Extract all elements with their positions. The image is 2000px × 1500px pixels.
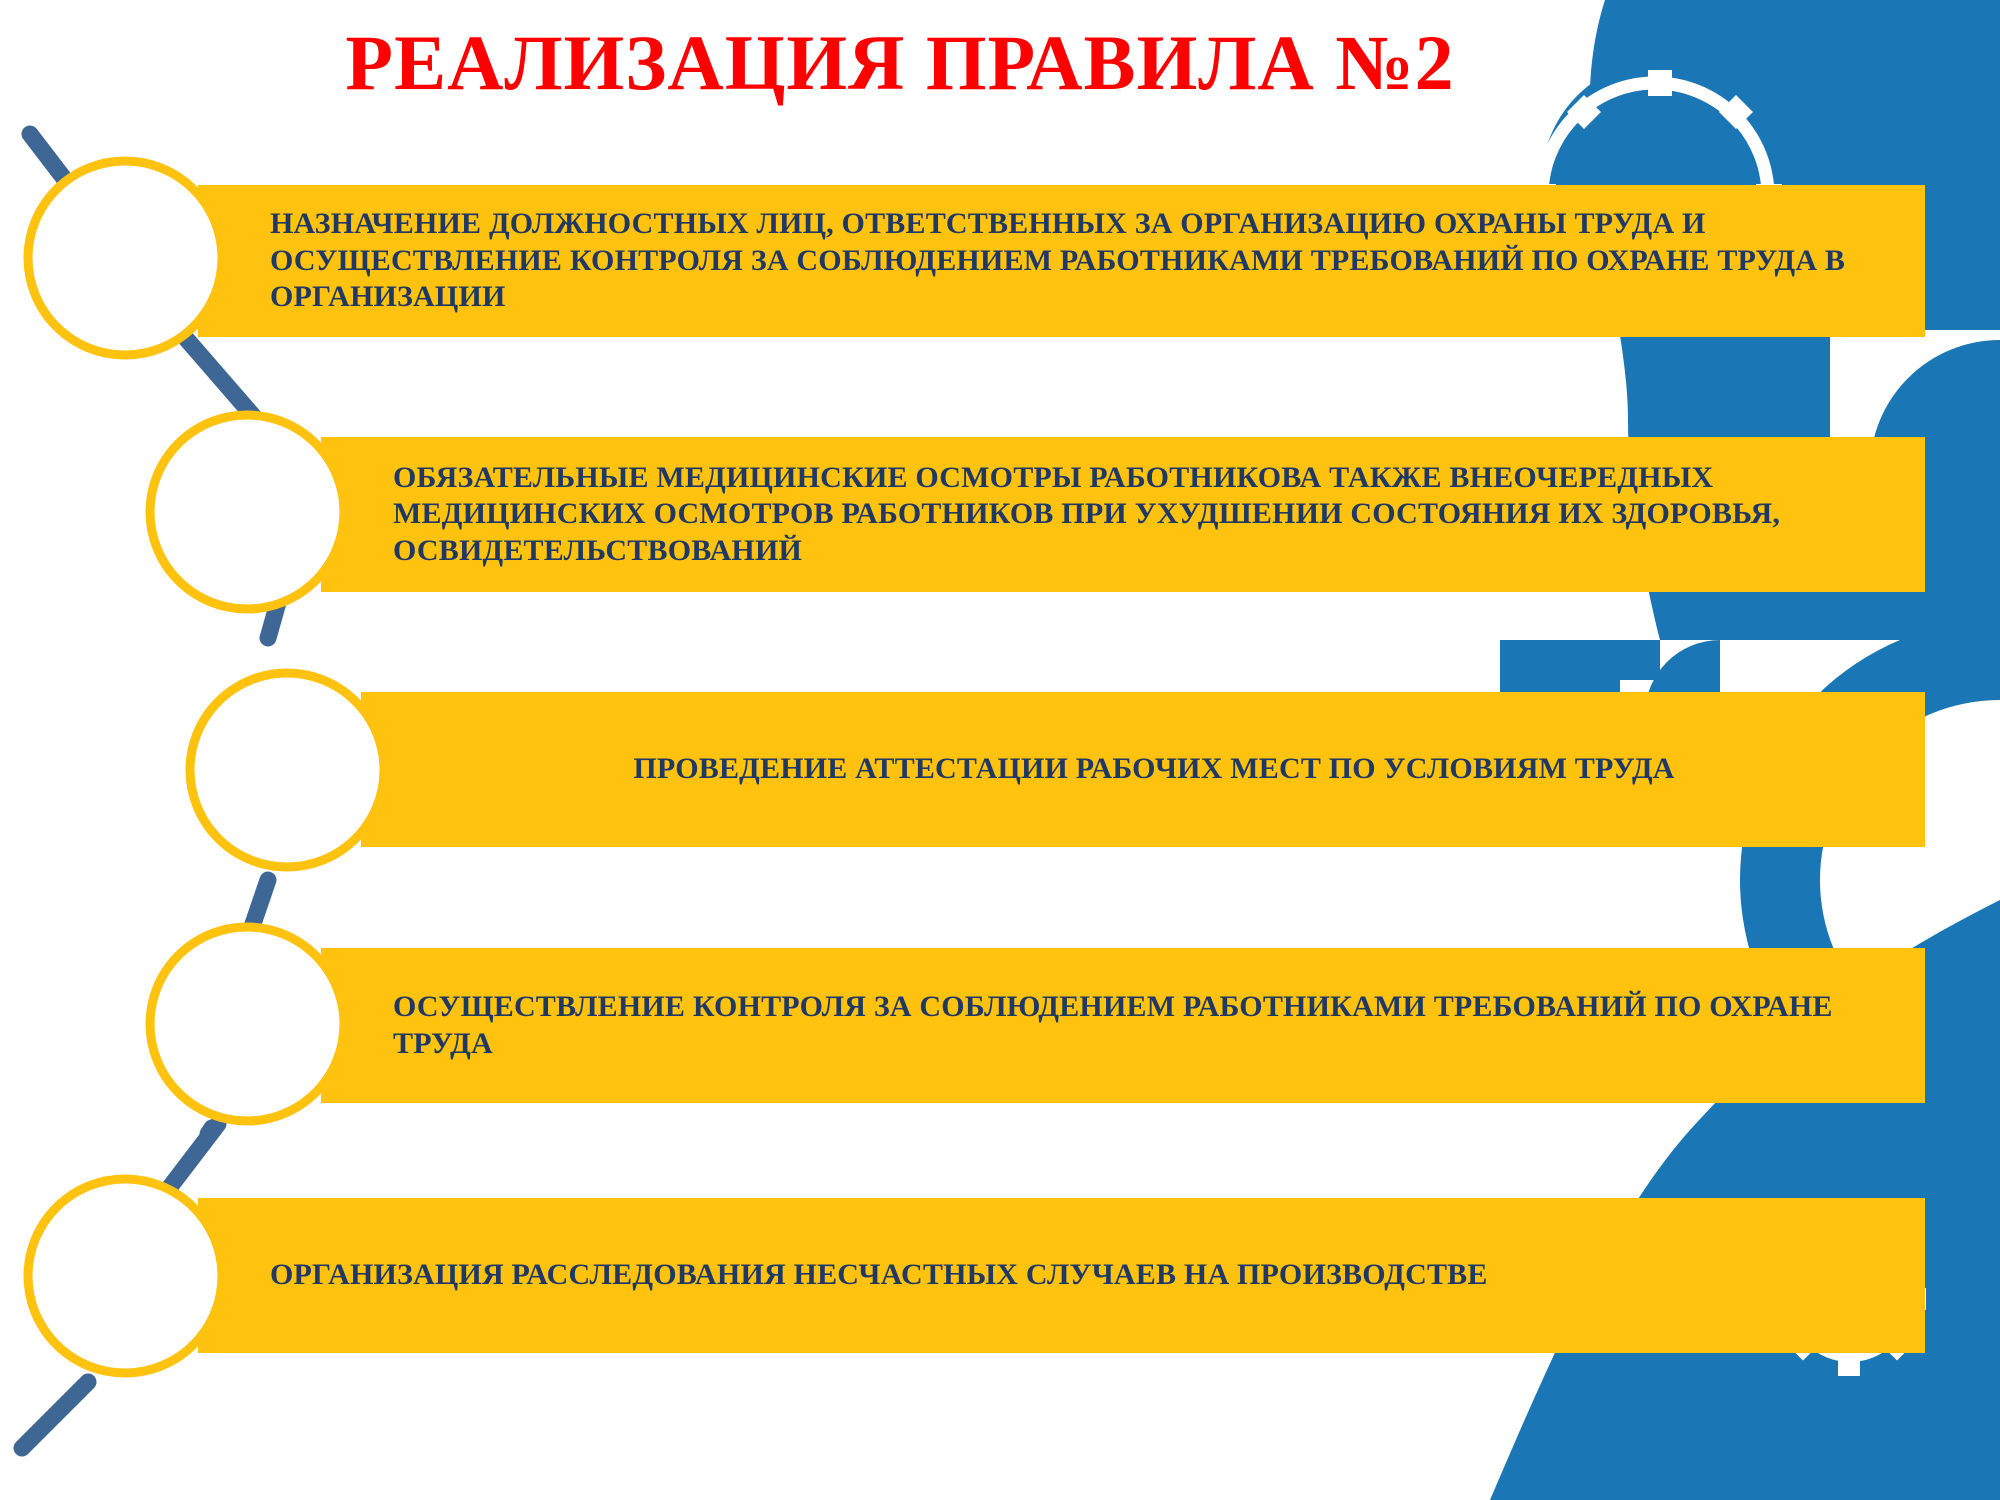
- timeline-connector: [0, 0, 520, 1500]
- step-bar-2-text: ОБЯЗАТЕЛЬНЫЕ МЕДИЦИНСКИЕ ОСМОТРЫ РАБОТНИ…: [393, 460, 1895, 570]
- step-bar-3[interactable]: ПРОВЕДЕНИЕ АТТЕСТАЦИИ РАБОЧИХ МЕСТ ПО УС…: [385, 692, 1925, 847]
- step-circle-2[interactable]: [150, 415, 344, 609]
- step-circle-3[interactable]: [190, 673, 384, 867]
- step-circle-1[interactable]: [28, 161, 222, 355]
- step-bar-3-text: ПРОВЕДЕНИЕ АТТЕСТАЦИИ РАБОЧИХ МЕСТ ПО УС…: [413, 751, 1895, 788]
- step-bar-4-text: ОСУЩЕСТВЛЕНИЕ КОНТРОЛЯ ЗА СОБЛЮДЕНИЕМ РА…: [393, 989, 1895, 1062]
- step-bar-2[interactable]: ОБЯЗАТЕЛЬНЫЕ МЕДИЦИНСКИЕ ОСМОТРЫ РАБОТНИ…: [345, 437, 1925, 592]
- step-circle-group: [28, 161, 384, 1373]
- step-circle-4[interactable]: [150, 927, 344, 1121]
- step-bar-4[interactable]: ОСУЩЕСТВЛЕНИЕ КОНТРОЛЯ ЗА СОБЛЮДЕНИЕМ РА…: [345, 948, 1925, 1103]
- step-circle-5[interactable]: [28, 1179, 222, 1373]
- slide-canvas: РЕАЛИЗАЦИЯ ПРАВИЛА №2 НАЗНАЧЕНИЕ ДОЛЖНОС…: [0, 0, 2000, 1500]
